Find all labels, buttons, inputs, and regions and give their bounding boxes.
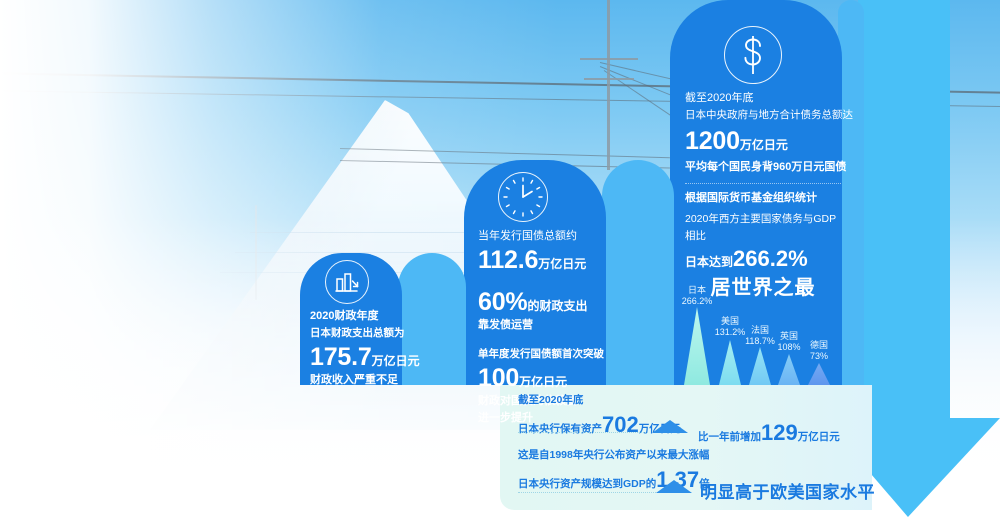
- infographic-canvas: 截至2020年底 日本中央政府与地方合计债务总额达 1200万亿日元 平均每个国…: [0, 0, 1000, 517]
- bond-issue-value: 112.6: [478, 246, 538, 274]
- boj-assets-value: 702: [602, 412, 639, 437]
- boj-assets-prefix: 日本央行保有资产: [518, 423, 602, 435]
- debt-total-value: 1200: [685, 127, 740, 155]
- spending-year-label: 2020财政年度: [310, 308, 420, 325]
- boj-asof-label: 截至2020年底: [518, 392, 681, 408]
- bond-issue-unit: 万亿日元: [538, 257, 586, 271]
- gdp-compare-line-2: 相比: [685, 228, 841, 245]
- spike-category-japan: 日本: [688, 285, 706, 295]
- boj-increase-value: 129: [761, 420, 798, 445]
- boj-row1-callout: 比一年前增加129万亿日元: [698, 420, 840, 446]
- debt-gdp-spike-chart: 日本 266.2% 美国 131.2% 法国 118.7% 英国 108% 德国…: [672, 285, 842, 385]
- spike-category-uk: 英国: [780, 331, 798, 341]
- debt-line-2: 日本中央政府与地方合计债务总额达: [685, 107, 841, 124]
- bar-chart-declining-icon: [325, 260, 369, 304]
- column-bonds-accent: [602, 160, 674, 385]
- boj-conclusion: 明显高于欧美国家水平: [700, 478, 875, 503]
- bond-issue-total: 112.6万亿日元: [478, 245, 608, 275]
- boj-increase-unit: 万亿日元: [798, 431, 840, 443]
- spike-category-germany: 德国: [810, 340, 828, 350]
- spike-value-germany: 73%: [810, 351, 828, 361]
- spending-share: 60%的财政支出: [478, 287, 608, 317]
- boj-record-note: 这是自1998年央行公布资产以来最大涨幅: [518, 447, 710, 463]
- spike-label-japan: 日本 266.2%: [670, 285, 724, 307]
- boj-row1-triangle-marker: [652, 420, 688, 433]
- utility-pole-crossarm: [584, 78, 634, 80]
- record-breakthrough-label: 单年度发行国债额首次突破: [478, 346, 608, 363]
- spending-total-unit: 万亿日元: [372, 354, 420, 368]
- spending-desc: 日本财政支出总额为: [310, 325, 420, 342]
- boj-row2-triangle-marker: [656, 480, 692, 493]
- spending-share-unit: 的财政支出: [527, 299, 587, 313]
- spending-total: 175.7万亿日元: [310, 342, 420, 372]
- column-spending-text: 2020财政年度 日本财政支出总额为 175.7万亿日元 财政收入严重不足: [310, 308, 420, 389]
- record-breakthrough: 100万亿日元: [478, 363, 608, 393]
- bond-issue-label: 当年发行国债总额约: [478, 228, 608, 245]
- debt-line-1: 截至2020年底: [685, 90, 841, 107]
- japan-ratio-prefix: 日本达到: [685, 255, 733, 269]
- debt-divider: [685, 183, 841, 184]
- record-unit: 万亿日元: [519, 375, 567, 389]
- arrow-shaft: [858, 0, 950, 430]
- debt-total: 1200万亿日元: [685, 126, 841, 156]
- utility-pole-crossarm: [580, 58, 638, 60]
- spike-bar-germany: [808, 363, 830, 385]
- spike-value-japan: 266.2%: [682, 296, 713, 306]
- boj-increase-prefix: 比一年前增加: [698, 431, 761, 443]
- boj-row1-dotted-rule: [518, 432, 648, 433]
- boj-gdp-ratio-prefix: 日本央行资产规模达到GDP的: [518, 478, 656, 490]
- gdp-compare-line-1: 2020年西方主要国家债务与GDP: [685, 211, 841, 228]
- debt-per-capita: 平均每个国民身背960万日元国债: [685, 159, 841, 176]
- spike-category-france: 法国: [751, 325, 769, 335]
- utility-pole: [607, 0, 610, 170]
- dollar-coin-icon: [724, 26, 782, 84]
- japan-ratio-value: 266.2%: [733, 246, 808, 271]
- revenue-shortfall-note: 财政收入严重不足: [310, 372, 420, 389]
- spike-label-germany: 德国 73%: [798, 340, 840, 362]
- imf-source: 根据国际货币基金组织统计: [685, 190, 841, 207]
- spending-share-note: 靠发债运营: [478, 317, 608, 334]
- debt-total-unit: 万亿日元: [740, 138, 788, 152]
- spike-bar-uk: [778, 354, 800, 385]
- record-value: 100: [478, 364, 519, 392]
- japan-ratio: 日本达到266.2%: [685, 245, 841, 272]
- spending-total-value: 175.7: [310, 343, 372, 371]
- clock-icon: [498, 172, 548, 222]
- column-debt-text: 截至2020年底 日本中央政府与地方合计债务总额达 1200万亿日元 平均每个国…: [685, 90, 841, 301]
- spending-share-value: 60%: [478, 288, 527, 316]
